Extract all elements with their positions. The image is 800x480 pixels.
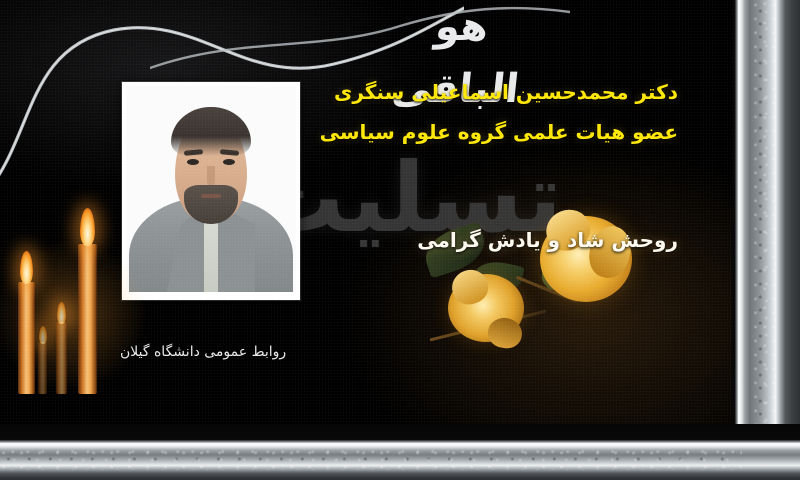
calligraphy-top-phrase: هو الباقی [369, 0, 556, 58]
picture-frame-right-edge [732, 0, 800, 480]
rose-petal-2b [486, 315, 525, 350]
signature-line: روابط عمومی دانشگاه گیلان [120, 344, 286, 360]
candles-group [0, 164, 140, 394]
candle-body-2 [18, 282, 35, 394]
candle-flame-4 [39, 326, 47, 344]
candle-body-1 [78, 244, 97, 394]
portrait-image [126, 86, 296, 292]
poster-inner-canvas: هو الباقی تسلیت [0, 0, 738, 428]
portrait-hair [171, 107, 251, 156]
candle-flame-3 [57, 302, 66, 324]
rose-bloom-2 [448, 274, 524, 342]
condolence-blessing-line: روحش شاد و یادش گرامی [417, 228, 678, 252]
memorial-poster: هو الباقی تسلیت [0, 0, 800, 480]
candle-flame-2 [20, 251, 33, 284]
candle-flame-1 [80, 208, 95, 246]
deceased-name-line: دکتر محمدحسین اسماعیلی سنگری [334, 80, 678, 104]
picture-frame-bottom-edge [0, 424, 800, 480]
portrait-mouth [201, 194, 221, 198]
portrait-photo [122, 82, 300, 300]
candle-body-4 [38, 342, 47, 394]
deceased-title-line: عضو هیات علمی گروه علوم سیاسی [320, 120, 678, 144]
candle-body-3 [56, 322, 67, 394]
